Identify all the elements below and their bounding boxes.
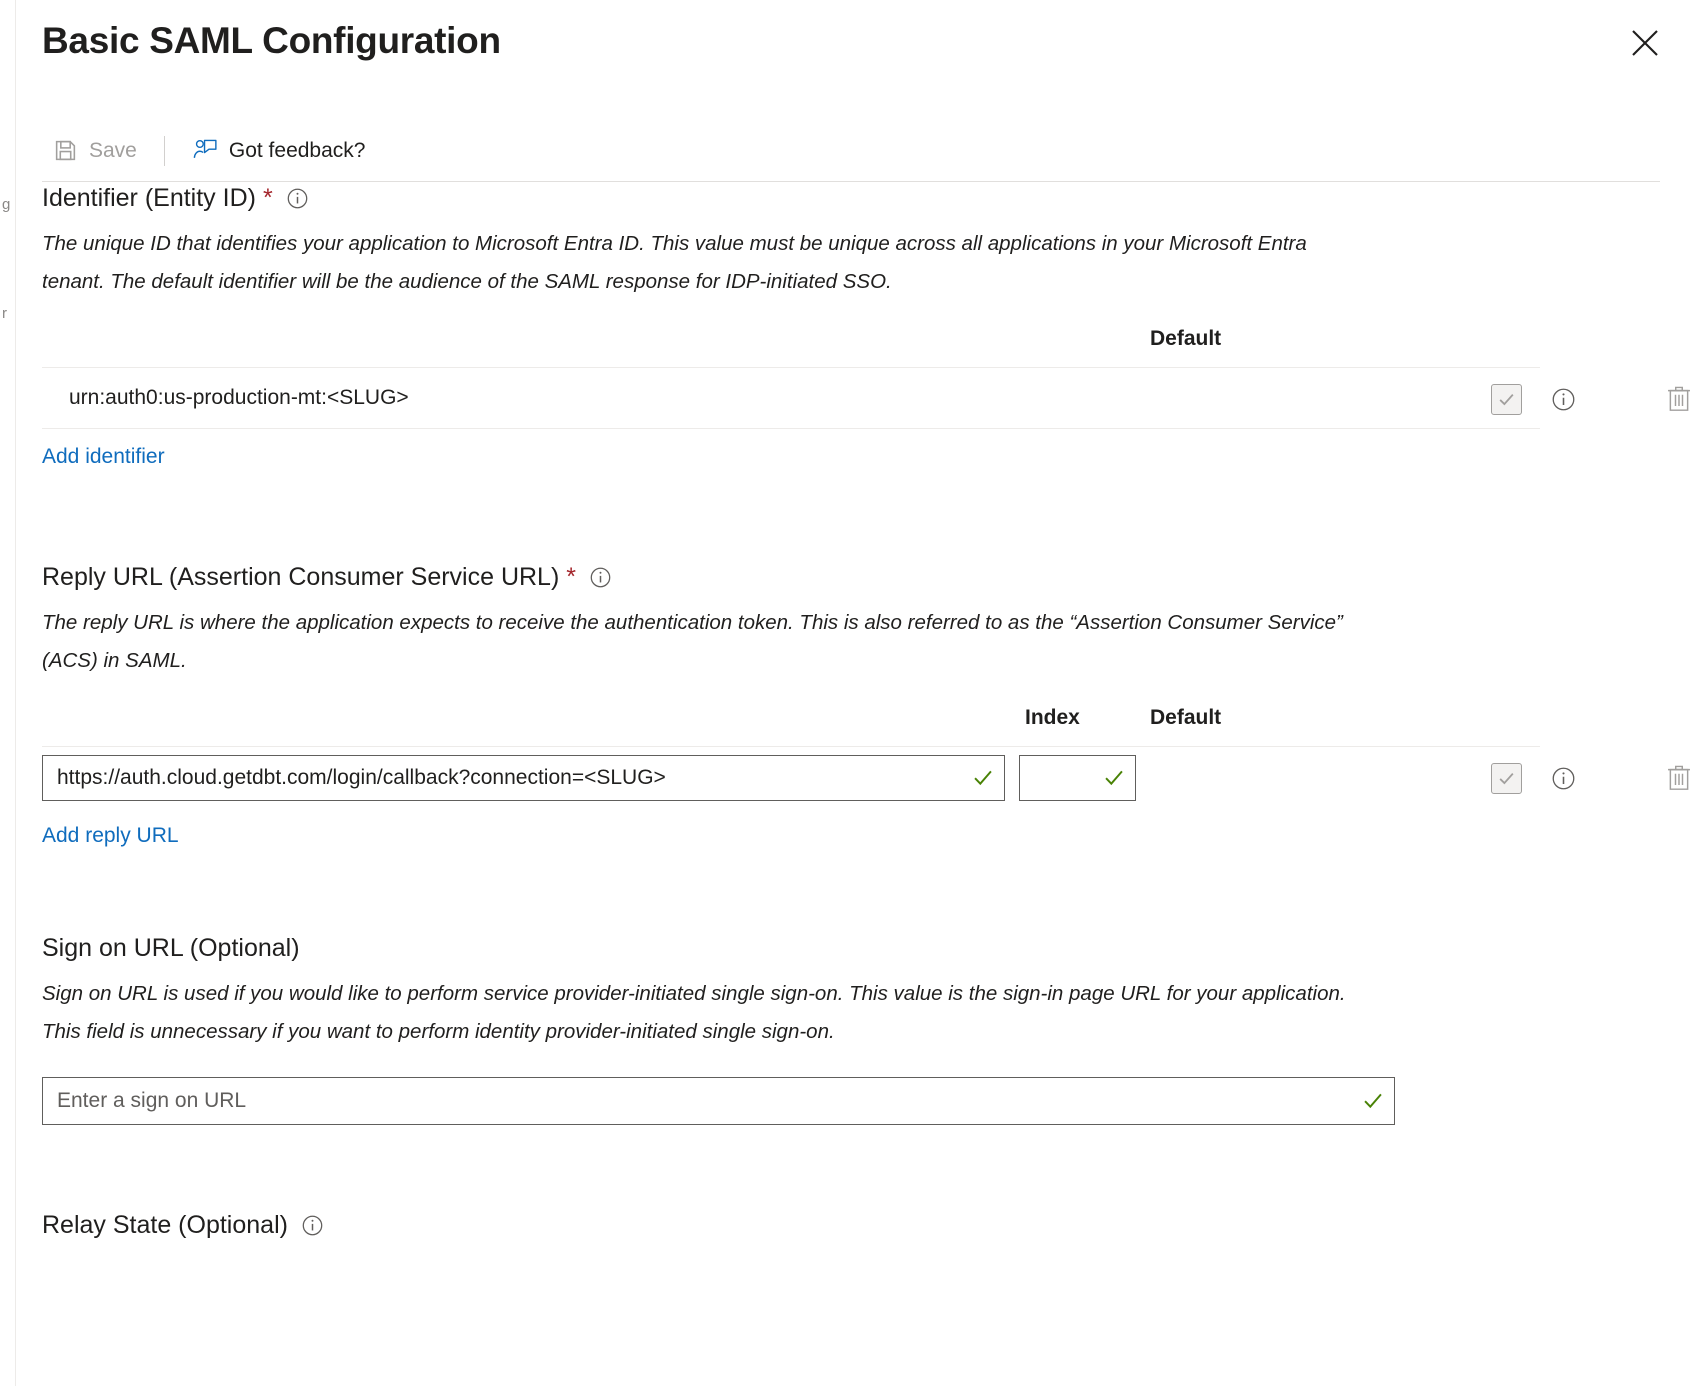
reply-url-index-input[interactable] (1019, 755, 1136, 801)
close-x-glyph (1630, 28, 1660, 58)
identifier-row: urn:auth0:us-production-mt:<SLUG> (42, 367, 1540, 429)
reply-url-row-info-icon[interactable] (1551, 766, 1576, 791)
sign-on-url-description: Sign on URL is used if you would like to… (17, 975, 1367, 1051)
reply-url-section: Reply URL (Assertion Consumer Service UR… (17, 561, 1692, 848)
reply-url-valid-icon (972, 767, 994, 789)
reply-url-delete-icon[interactable] (1666, 764, 1692, 792)
reply-url-label-row: Reply URL (Assertion Consumer Service UR… (17, 561, 1692, 593)
save-icon (52, 138, 78, 164)
identifier-section: Identifier (Entity ID) * The unique ID t… (17, 182, 1692, 469)
spacer-identifier-reply (17, 469, 1692, 561)
identifier-info-icon[interactable] (286, 187, 309, 210)
reply-url-index-column-header: Index (1025, 706, 1080, 730)
relay-state-label: Relay State (Optional) (42, 1209, 288, 1241)
background-ghost-text-2: r (2, 305, 16, 322)
background-ghost-text-1: g (2, 196, 16, 213)
command-bar: Save Got feedback? (42, 120, 1660, 182)
spacer-signon-relay (17, 1125, 1692, 1209)
panel-content: Identifier (Entity ID) * The unique ID t… (17, 182, 1692, 1241)
identifier-column-headers: Default (17, 327, 1692, 367)
identifier-row-info-icon[interactable] (1551, 387, 1576, 412)
relay-state-label-row: Relay State (Optional) (17, 1209, 1692, 1241)
reply-url-row: https://auth.cloud.getdbt.com/login/call… (42, 746, 1540, 808)
identifier-label: Identifier (Entity ID) (42, 182, 256, 214)
relay-state-section: Relay State (Optional) (17, 1209, 1692, 1241)
reply-url-input-value: https://auth.cloud.getdbt.com/login/call… (57, 766, 964, 790)
identifier-value[interactable]: urn:auth0:us-production-mt:<SLUG> (42, 386, 409, 410)
reply-url-info-icon[interactable] (589, 566, 612, 589)
add-reply-url-link[interactable]: Add reply URL (42, 824, 179, 848)
got-feedback-button[interactable]: Got feedback? (182, 129, 376, 173)
background-blade-sliver: g r (0, 0, 16, 1386)
sign-on-url-section: Sign on URL (Optional) Sign on URL is us… (17, 932, 1692, 1125)
reply-url-row-controls (1491, 747, 1692, 809)
sign-on-url-input[interactable]: Enter a sign on URL (42, 1077, 1395, 1125)
identifier-required-marker: * (263, 182, 273, 214)
reply-url-description: The reply URL is where the application e… (17, 604, 1367, 680)
identifier-delete-icon[interactable] (1666, 385, 1692, 413)
sign-on-url-placeholder: Enter a sign on URL (57, 1089, 1354, 1113)
reply-url-index-valid-icon (1103, 767, 1125, 789)
feedback-person-icon (192, 138, 218, 164)
sign-on-url-label-row: Sign on URL (Optional) (17, 932, 1692, 964)
reply-url-input[interactable]: https://auth.cloud.getdbt.com/login/call… (42, 755, 1005, 801)
save-label: Save (89, 138, 137, 164)
command-bar-divider (164, 136, 165, 166)
sign-on-url-label: Sign on URL (Optional) (42, 932, 300, 964)
close-icon[interactable] (1622, 20, 1668, 66)
reply-url-default-column-header: Default (1150, 706, 1221, 730)
relay-state-info-icon[interactable] (301, 1214, 324, 1237)
identifier-default-column-header: Default (1150, 327, 1221, 351)
reply-url-label: Reply URL (Assertion Consumer Service UR… (42, 561, 559, 593)
got-feedback-label: Got feedback? (229, 138, 366, 164)
add-identifier-link[interactable]: Add identifier (42, 445, 165, 469)
page-title: Basic SAML Configuration (42, 18, 501, 64)
save-button[interactable]: Save (42, 129, 147, 173)
panel-header: Basic SAML Configuration (17, 0, 1692, 110)
identifier-description: The unique ID that identifies your appli… (17, 225, 1367, 301)
identifier-label-row: Identifier (Entity ID) * (17, 182, 1692, 214)
reply-url-required-marker: * (566, 561, 576, 593)
basic-saml-configuration-panel: Basic SAML Configuration Save (17, 0, 1692, 1386)
spacer-reply-signon (17, 848, 1692, 932)
sign-on-url-valid-icon (1362, 1090, 1384, 1112)
reply-url-column-headers: Index Default (17, 706, 1692, 746)
identifier-default-checkbox (1491, 384, 1522, 415)
identifier-row-controls (1491, 368, 1692, 430)
reply-url-default-checkbox (1491, 763, 1522, 794)
